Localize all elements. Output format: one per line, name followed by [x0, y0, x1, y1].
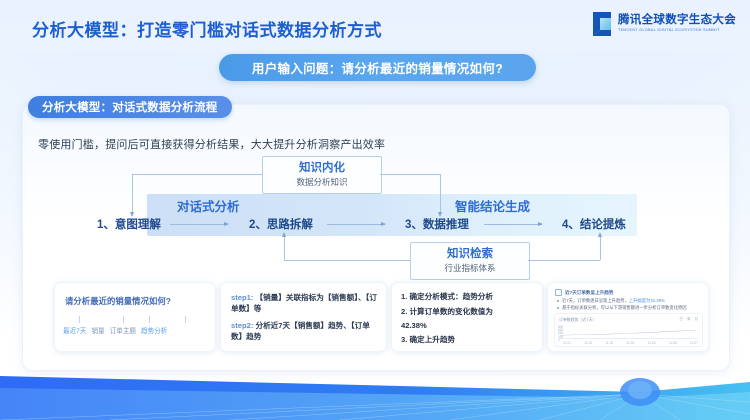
chart-x-axis-labels: 11-01 11-02 11-03 11-04 11-05 11-06 11-0…	[563, 341, 698, 345]
chart-title: 订单数趋势（近7天）	[559, 317, 596, 323]
bullet-dot-icon	[557, 300, 559, 302]
logo-text-en: TENCENT GLOBAL DIGITAL ECOSYSTEM SUMMIT	[618, 29, 736, 33]
trend-chart[interactable]: 订单数趋势（近7天） 日 周 月 800 600 400 200 0	[554, 313, 703, 347]
user-question-banner: 用户输入问题：请分析最近的销量情况如何?	[219, 54, 536, 81]
conference-logo: 腾讯全球数字生态大会 TENCENT GLOBAL DIGITAL ECOSYS…	[591, 8, 736, 40]
chart-xlabel-0: 11-01	[563, 341, 571, 345]
chart-xlabel-2: 11-03	[605, 341, 613, 345]
chart-x-axis	[559, 338, 698, 339]
plan-step-1-key: step1:	[231, 293, 253, 302]
logo-wordmark: 腾讯全球数字生态大会 TENCENT GLOBAL DIGITAL ECOSYS…	[618, 15, 736, 32]
intent-tag-row: 最近7天 销量 订单主题 趋势分析	[63, 325, 209, 335]
intent-tick-1	[79, 316, 80, 323]
intent-tick-2	[123, 316, 124, 323]
chart-tab-week[interactable]: 周	[687, 317, 691, 322]
chart-range-tabs[interactable]: 日 周 月	[679, 317, 698, 322]
plan-step-2-key: step2:	[231, 321, 253, 330]
intent-tick-3	[149, 316, 150, 323]
reasoning-value: 42.38%	[401, 321, 536, 332]
card-intent-understanding[interactable]: 请分析最近的销量情况如何? 最近7天 销量 订单主题 趋势分析	[54, 282, 216, 352]
intent-tag-1: 最近7天	[63, 325, 86, 335]
reasoning-line-4: 3. 确定上升趋势	[401, 335, 536, 346]
footer-decoration	[0, 364, 750, 420]
reasoning-line-2: 2. 计算订单数的变化数值为	[401, 307, 536, 318]
chart-xlabel-1: 11-02	[584, 341, 592, 345]
tencent-summit-logo-icon	[591, 11, 613, 37]
header-bar: 分析大模型：打造零门槛对话式数据分析方式 腾讯全球数字生态大会	[0, 0, 750, 52]
bullet-dot-icon-2	[557, 307, 559, 309]
page-title: 分析大模型：打造零门槛对话式数据分析方式	[32, 16, 382, 41]
intent-tag-4: 趋势分析	[141, 325, 167, 335]
card-conclusion-chart[interactable]: 近7天订单数呈上升趋势 近7天，订单数逐日呈现上升趋势，上升幅度为42.38% …	[547, 282, 709, 352]
conclusion-bullet-1-highlight: 上升幅度为42.38%	[629, 298, 665, 303]
chart-tab-day[interactable]: 日	[679, 317, 683, 322]
card-plan-breakdown[interactable]: step1: 【销量】关联指标为【销售额】、【订单数】等 step2: 分析近7…	[220, 282, 387, 352]
plan-step-1-text: 【销量】关联指标为【销售额】、【订单数】等	[231, 293, 377, 313]
conclusion-bullet-1: 近7天，订单数逐日呈现上升趋势，上升幅度为42.38%	[557, 298, 703, 304]
intent-tag-3: 订单主题	[110, 325, 136, 335]
conclusion-bullet-1-text: 近7天，订单数逐日呈现上升趋势，	[562, 298, 629, 303]
plan-step-1: step1: 【销量】关联指标为【销售额】、【订单数】等	[231, 292, 378, 315]
chart-tab-month[interactable]: 月	[694, 317, 698, 322]
conclusion-headline: 近7天订单数呈上升趋势	[565, 290, 614, 296]
intent-tick-4	[185, 316, 186, 323]
conclusion-bullet-2-text: 基于指标关联分析，可以从下游销售额进一步分析订单数变化原因	[562, 305, 687, 310]
chart-xlabel-3: 11-04	[627, 341, 635, 345]
chart-plot-area	[559, 326, 698, 337]
conclusion-head-row: 近7天订单数呈上升趋势	[555, 289, 702, 296]
chart-xlabel-4: 11-05	[648, 341, 656, 345]
logo-text-cn: 腾讯全球数字生态大会	[618, 15, 736, 27]
chart-xlabel-5: 11-06	[669, 341, 677, 345]
intent-tag-2: 销量	[91, 325, 104, 335]
reasoning-line-1: 1. 确定分析模式：趋势分析	[401, 292, 536, 303]
card-intent-question: 请分析最近的销量情况如何?	[65, 295, 207, 307]
example-cards: 请分析最近的销量情况如何? 最近7天 销量 订单主题 趋势分析 step1: 【…	[22, 104, 728, 369]
conclusion-bullet-2: 基于指标关联分析，可以从下游销售额进一步分析订单数变化原因	[557, 305, 703, 311]
card-data-reasoning[interactable]: 1. 确定分析模式：趋势分析 2. 计算订单数的变化数值为 42.38% 3. …	[391, 282, 543, 352]
chart-xlabel-6: 11-07	[690, 341, 698, 345]
check-icon	[555, 289, 562, 296]
slide-canvas: 分析大模型：打造零门槛对话式数据分析方式 腾讯全球数字生态大会	[0, 0, 750, 420]
plan-step-2: step2: 分析近7天【销售额】趋势、【订单数】趋势	[231, 320, 378, 343]
